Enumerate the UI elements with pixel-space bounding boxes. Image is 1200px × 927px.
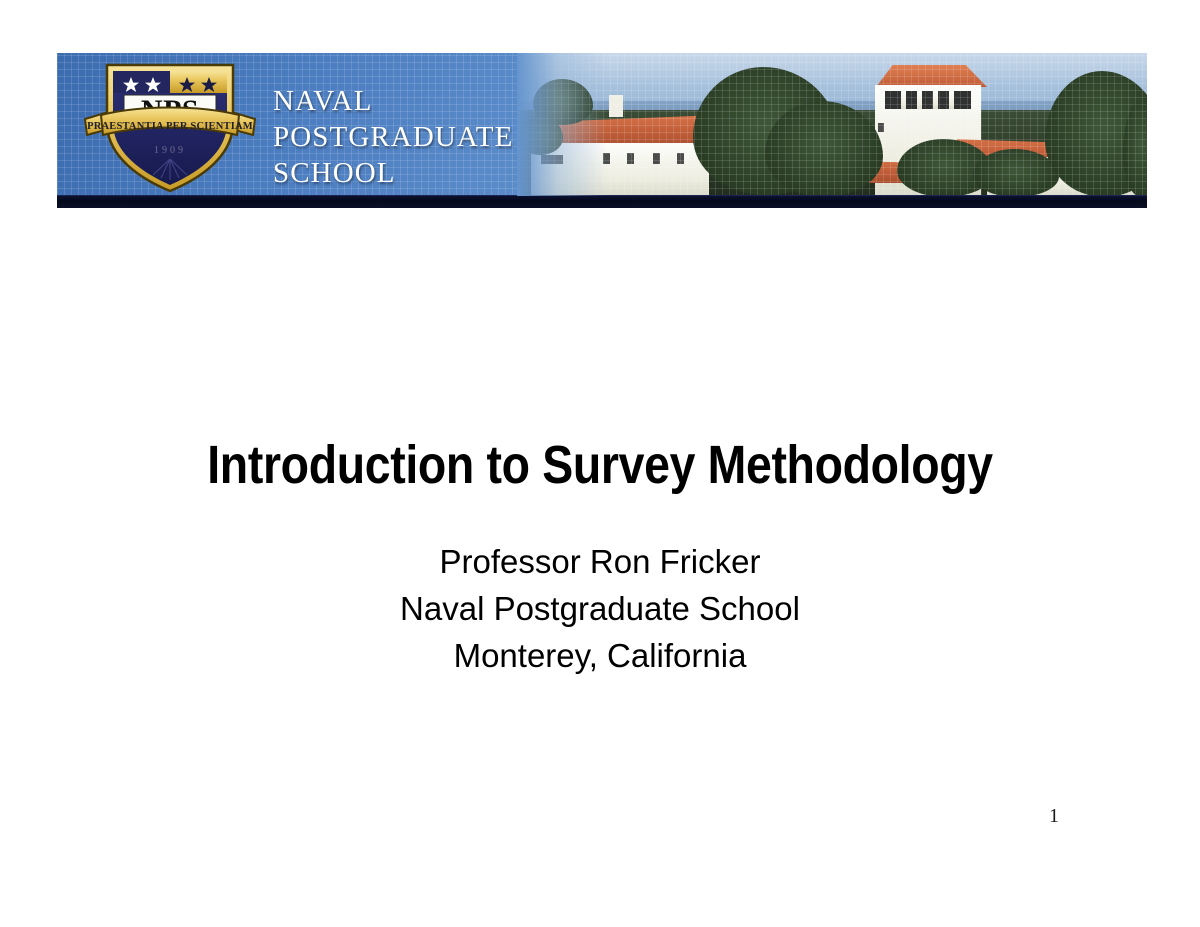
wordmark-line-postgraduate: POSTGRADUATE [273, 119, 513, 155]
window [653, 153, 660, 164]
tower-pillar [933, 91, 938, 109]
subtitle-presenter: Professor Ron Fricker [0, 538, 1200, 585]
slide-subtitle: Professor Ron Fricker Naval Postgraduate… [0, 538, 1200, 679]
slide-title: Introduction to Survey Methodology [84, 434, 1116, 496]
page-number: 1 [1049, 805, 1059, 827]
svg-text:1909: 1909 [154, 145, 186, 156]
tower-pillar [917, 91, 922, 109]
tower-window [878, 123, 884, 132]
nps-wordmark: NAVAL POSTGRADUATE SCHOOL [273, 83, 513, 191]
subtitle-location: Monterey, California [0, 632, 1200, 679]
svg-text:PRAESTANTIA PER SCIENTIAM: PRAESTANTIA PER SCIENTIAM [87, 121, 253, 132]
tower-pillar [901, 91, 906, 109]
wordmark-line-school: SCHOOL [273, 155, 513, 191]
nps-shield-logo: NPS 1909 PRAESTANTIA PER S [79, 57, 261, 195]
window [627, 153, 634, 164]
campus-photo [517, 53, 1147, 196]
tower-pillar [949, 91, 954, 109]
window [677, 153, 684, 164]
wordmark-line-naval: NAVAL [273, 83, 513, 119]
photo-blend-gradient [517, 53, 607, 196]
subtitle-institution: Naval Postgraduate School [0, 585, 1200, 632]
tower-arcade [885, 91, 971, 109]
slide-canvas: NPS 1909 PRAESTANTIA PER S [0, 0, 1200, 927]
chimney-left [609, 95, 623, 117]
banner-bottom-bar [57, 195, 1147, 208]
nps-header-banner: NPS 1909 PRAESTANTIA PER S [57, 53, 1147, 208]
